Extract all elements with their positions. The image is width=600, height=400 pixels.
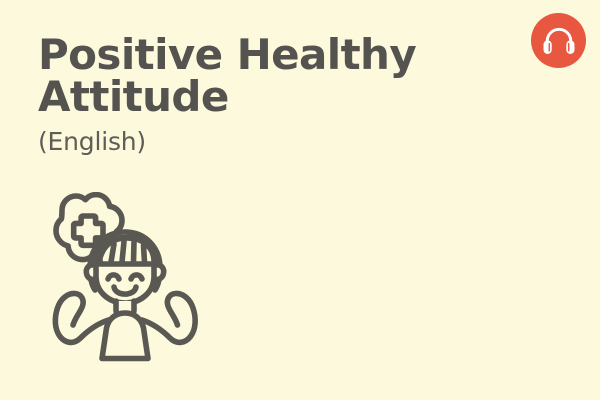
- right-arm-flexed: [142, 293, 195, 342]
- headphones-icon: [542, 26, 576, 56]
- smiling-mouth: [114, 287, 136, 294]
- left-arm-flexed: [55, 293, 108, 342]
- title-block: Positive Healthy Attitude (English): [38, 34, 478, 156]
- subtitle-language: (English): [38, 118, 478, 156]
- illustration-happy-person-flexing: [32, 192, 212, 370]
- content-card: Positive Healthy Attitude (English): [0, 0, 600, 400]
- bangs: [100, 238, 154, 264]
- audio-badge[interactable]: [531, 13, 586, 68]
- page-title: Positive Healthy Attitude: [38, 34, 478, 118]
